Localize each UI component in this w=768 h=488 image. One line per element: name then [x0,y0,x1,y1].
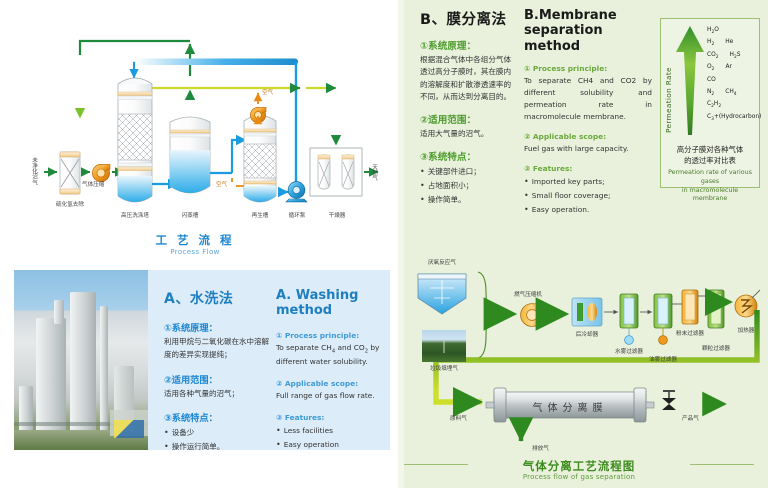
washing-feature-en-2: Easy operation [276,438,390,452]
washing-features-title-en: ③ Features: [276,413,390,422]
label-gas-compressor: 燃气压缩机 [514,290,542,298]
hp-washing-tower [118,78,152,202]
label-membrane-module: 气体分离膜 [494,399,646,414]
flash-tank [170,117,210,193]
permeation-caption-cn: 高分子膜对各种气体 的透过率对比表 [665,145,755,166]
membrane-cn-column: B、膜分离法 ①系统原理： 根据混合气体中各组分气体透过高分子膜时，其在膜内的溶… [420,8,516,207]
membrane-sec2-title-en: ② Applicable scope: [524,132,652,141]
membrane-sec1-title-en: ① Process principle: [524,64,652,73]
gas-row: CO [707,74,761,86]
label-after-cooler: 后冷却器 [562,330,612,338]
membrane-en-column: B.Membrane separation method ① Process p… [524,8,652,217]
membrane-feature-en-3: Easy operation. [524,203,652,217]
washing-heading-en: A. Washing method [276,288,390,319]
membrane-features-title-cn: ③系统特点： [420,149,516,163]
control-valve [662,391,676,410]
label-gas-compression: 气体压缩 [82,180,104,188]
plant-photo [14,270,148,450]
circulation-pump [286,182,307,202]
washing-sec1-title-en: ① Process principle: [276,331,390,340]
brochure-page: 未净化沼气 硫化氢去除 气体压缩 高压洗涤塔 闪蒸槽 再生槽 循环泵 干燥器 天… [0,0,768,488]
gas-compressor [521,304,544,327]
label-h2s-removal: 硫化氢去除 [46,200,94,208]
permeation-caption-en: Permeation rate of various gases in macr… [665,169,755,204]
gas-row: CO2H2S [707,49,761,61]
permeation-caption-cn-l2: 的透过率对比表 [684,156,736,165]
label-air-out: 空气 [262,88,273,96]
washing-heading-cn: A、水洗法 [164,288,272,308]
washing-feature-en-1: Less facilities [276,424,390,438]
membrane-sec2-body-cn: 适用大气量的沼气。 [420,128,516,140]
membrane-feature-cn-3: 操作简单。 [420,193,516,207]
label-powder-filter: 粉末过滤器 [664,329,716,337]
gas-row: C2H2 [707,98,761,110]
label-feed-gas: 原料气 [450,414,467,422]
membrane-heading-en-line1: B.Membrane [524,8,617,23]
gas-row: H2He [707,36,761,48]
washing-sec2-title-cn: ②适用范围： [164,372,272,386]
membrane-heading-en: B.Membrane separation method [524,8,652,54]
gas-separation-diagram: 厌氧反应气 垃圾填埋气 燃气压缩机 后冷却器 水雾过滤器 油雾过滤器 粉末过滤器… [396,252,762,488]
permeation-axis-label: Permeation Rate [664,37,673,133]
h2s-removal-vessel [60,152,80,194]
label-landfill-gas: 垃圾填埋气 [410,364,478,372]
membrane-sec1-body-en: To separate CH4 and CO2 by different sol… [524,75,652,123]
label-water-mist-filter: 水雾过滤器 [603,347,655,355]
label-exhaust-gas: 排放气 [532,444,549,452]
washing-en-column: A. Washing method ① Process principle: T… [276,288,390,452]
washing-method-panel: A、水洗法 ①系统原理： 利用甲烷与二氧化碳在水中溶解度的差异实现提纯； ②适用… [14,270,390,450]
label-circulation-pump: 循环泵 [275,211,319,219]
process-flow-title-en: Process Flow [0,248,390,256]
gas-row: O2Ar [707,61,761,73]
label-anaerobic-gas: 厌氧反应气 [410,258,474,266]
label-particle-filter: 颗粒过滤器 [690,344,742,352]
membrane-feature-cn-2: 占地面积小； [420,179,516,193]
powder-filter [682,290,698,324]
label-oil-mist-filter: 油雾过滤器 [637,355,689,363]
process-flow-svg [0,0,390,232]
gas-separation-title-en: Process flow of gas separation [396,473,762,481]
permeation-arrow [675,25,705,137]
membrane-sec1-title-cn: ①系统原理： [420,38,516,52]
washing-feature-cn-1: 设备少 [164,426,272,440]
membrane-feature-en-1: Imported key parts; [524,175,652,189]
particle-filter [708,290,724,328]
washing-cn-column: A、水洗法 ①系统原理： 利用甲烷与二氧化碳在水中溶解度的差异实现提纯； ②适用… [164,288,272,455]
washing-sec2-body-en: Full range of gas flow rate. [276,390,390,403]
membrane-sec2-body-en: Fuel gas with large capacity. [524,143,652,155]
label-product-gas: 产品气 [682,414,699,422]
permeation-caption-en-l1: Permeation rate of various gases [668,169,752,185]
after-cooler [572,298,602,326]
washing-sec2-body-cn: 适用各种气量的沼气； [164,388,272,401]
process-flow-title-cn: 工 艺 流 程 [0,232,390,248]
membrane-features-title-en: ③ Features: [524,164,652,173]
label-raw-biogas: 未净化沼气 [30,157,38,185]
washing-feature-cn-2: 操作运行简单。 [164,440,272,454]
washing-sec2-title-en: ② Applicable scope: [276,379,390,388]
water-mist-filter [620,294,638,344]
washing-sec1-body-en: To separate CH4 and CO2 by different wat… [276,342,390,369]
label-air-in: 空气 [216,180,227,188]
gas-separation-title-cn: 气体分离工艺流程图 [396,458,762,474]
label-flash-tank: 闪蒸槽 [166,211,214,219]
permeation-caption-cn-l1: 高分子膜对各种气体 [677,145,744,154]
membrane-sec1-body-cn: 根据混合气体中各组分气体透过高分子膜时，其在膜内的溶解度和扩散渗透速率的不同，从… [420,54,516,103]
membrane-text-block: B、膜分离法 ①系统原理： 根据混合气体中各组分气体透过高分子膜时，其在膜内的溶… [420,8,760,198]
washing-features-title-cn: ③系统特点： [164,410,272,424]
membrane-heading-en-line2: separation method [524,23,603,53]
washing-sec1-body-cn: 利用甲烷与二氧化碳在水中溶解度的差异实现提纯； [164,336,272,362]
permeation-gas-list: H2O H2He CO2H2S O2Ar CO N2CH4 C2H2 C3+(H… [707,24,761,123]
label-heater: 加热器 [722,326,768,334]
label-hp-wash-tower: 高压洗涤塔 [111,211,159,219]
process-flow-diagram: 未净化沼气 硫化氢去除 气体压缩 高压洗涤塔 闪蒸槽 再生槽 循环泵 干燥器 天… [0,0,390,260]
dryer [310,148,362,196]
label-natural-gas: 天然气 [370,164,378,181]
gas-row: H2O [707,24,761,36]
membrane-heading-cn: B、膜分离法 [420,8,516,29]
gas-row: C3+(Hydrocarbon) [707,111,761,123]
regeneration-tank [244,116,276,203]
washing-sec1-title-cn: ①系统原理： [164,320,272,334]
gas-row: N2CH4 [707,86,761,98]
membrane-feature-en-2: Small floor coverage; [524,189,652,203]
membrane-sec2-title-cn: ②适用范围： [420,112,516,126]
landfill-photo [422,330,466,362]
permeation-caption-en-l2: in macromolecule membrane [682,187,738,203]
anaerobic-digester [418,274,466,314]
permeation-rate-chart: Permeation Rate H2O H2He [660,18,760,188]
label-dryer: 干燥器 [314,211,360,219]
membrane-feature-cn-1: 关键部件进口； [420,165,516,179]
